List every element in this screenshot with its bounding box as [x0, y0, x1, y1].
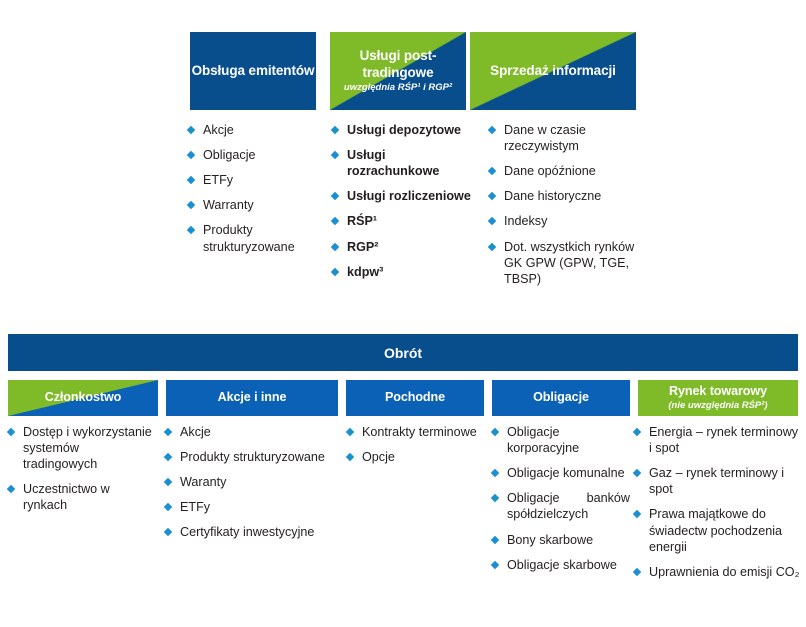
diamond-bullet-icon — [331, 242, 339, 250]
list-item: Opcje — [345, 449, 483, 465]
list-item-label: Bony skarbowe — [507, 533, 593, 547]
list-item-label: Indeksy — [504, 214, 547, 228]
list-item: Akcje — [186, 122, 326, 138]
list-item-label: Waranty — [180, 475, 226, 489]
list-item-label: Usługi rozrachunkowe — [347, 148, 439, 178]
section-banner-obrot: Obrót — [8, 334, 798, 371]
list-item-label: Obligacje korporacyjne — [507, 425, 579, 455]
panel-header-obsluga-emitentow[interactable]: Obsługa emitentów — [190, 32, 316, 110]
list-item-label: Dane opóźnione — [504, 164, 596, 178]
diamond-bullet-icon — [331, 192, 339, 200]
bullet-list-uslugi-post-tradingowe: Usługi depozytoweUsługi rozrachunkoweUsł… — [330, 122, 480, 280]
diamond-bullet-icon — [187, 201, 195, 209]
list-item-label: Opcje — [362, 450, 395, 464]
list-item-label: Dane w czasie rzeczywistym — [504, 123, 586, 153]
issuer-services-section: Obsługa emitentów Usługi post-tradingowe… — [0, 0, 806, 310]
category-header-title: Rynek towarowy — [669, 384, 767, 399]
diamond-bullet-icon — [633, 428, 641, 436]
category-header-title: Obligacje — [533, 390, 589, 405]
list-item-label: RŚP¹ — [347, 214, 377, 228]
list-item-label: Akcje — [203, 123, 234, 137]
list-item: Dane historyczne — [487, 188, 637, 204]
diamond-bullet-icon — [633, 469, 641, 477]
diamond-bullet-icon — [491, 535, 499, 543]
list-item-label: Kontrakty terminowe — [362, 425, 477, 439]
diamond-bullet-icon — [187, 176, 195, 184]
diamond-bullet-icon — [331, 217, 339, 225]
list-item: Usługi depozytowe — [330, 122, 480, 138]
bullet-list-czlonkostwo: Dostęp i wykorzystanie systemów tradingo… — [6, 424, 154, 514]
diamond-bullet-icon — [633, 510, 641, 518]
diamond-bullet-icon — [187, 126, 195, 134]
list-item-label: Obligacje skarbowe — [507, 558, 617, 572]
list-item-label: kdpw³ — [347, 265, 383, 279]
list-item: Obligacje korporacyjne — [490, 424, 630, 456]
diamond-bullet-icon — [491, 469, 499, 477]
list-item-label: Akcje — [180, 425, 211, 439]
list-item: RŚP¹ — [330, 213, 480, 229]
list-item: Certyfikaty inwestycyjne — [163, 524, 343, 540]
list-item: Indeksy — [487, 213, 637, 229]
diamond-bullet-icon — [164, 528, 172, 536]
diamond-bullet-icon — [331, 151, 339, 159]
list-item-label: Certyfikaty inwestycyjne — [180, 525, 314, 539]
list-item: Akcje — [163, 424, 343, 440]
diamond-bullet-icon — [187, 226, 195, 234]
diamond-bullet-icon — [164, 453, 172, 461]
panel-header-uslugi-post-tradingowe[interactable]: Usługi post-tradingowe uwzględnia RŚP¹ i… — [330, 32, 466, 110]
list-item: Obligacje — [186, 147, 326, 163]
list-item: Energia – rynek terminowy i spot — [632, 424, 800, 456]
list-item: Uczestnictwo w rynkach — [6, 481, 154, 513]
list-item: Obligacje komunalne — [490, 465, 630, 481]
list-item-label: RGP² — [347, 240, 378, 254]
list-item-label: ETFy — [180, 500, 210, 514]
list-item: Usługi rozrachunkowe — [330, 147, 480, 179]
list-item: Dane opóźnione — [487, 163, 637, 179]
panel-header-title: Sprzedaż informacji — [490, 63, 616, 79]
list-item-label: Produkty strukturyzowane — [203, 223, 295, 253]
category-header-rynek-towarowy[interactable]: Rynek towarowy (nie uwzględnia RŚP²) — [638, 380, 798, 416]
list-item: RGP² — [330, 239, 480, 255]
diamond-bullet-icon — [491, 560, 499, 568]
list-item-label: Warranty — [203, 198, 254, 212]
diamond-bullet-icon — [491, 494, 499, 502]
category-header-czlonkostwo[interactable]: Członkostwo — [8, 380, 158, 416]
list-item: Dostęp i wykorzystanie systemów tradingo… — [6, 424, 154, 472]
list-item: ETFy — [186, 172, 326, 188]
list-item-label: Dane historyczne — [504, 189, 601, 203]
list-item: Prawa majątkowe do świadectw pochodzenia… — [632, 506, 800, 554]
category-header-subtitle: (nie uwzględnia RŚP²) — [668, 400, 767, 411]
panel-header-sprzedaz-informacji[interactable]: Sprzedaż informacji — [470, 32, 636, 110]
diamond-bullet-icon — [488, 126, 496, 134]
list-item-label: Obligacje komunalne — [507, 466, 625, 480]
bullet-list-sprzedaz-informacji: Dane w czasie rzeczywistymDane opóźnione… — [487, 122, 637, 287]
diamond-bullet-icon — [346, 428, 354, 436]
bullet-list-obsluga-emitentow: AkcjeObligacjeETFyWarrantyProdukty struk… — [186, 122, 326, 255]
list-item: Obligacje banków spółdzielczych — [490, 490, 630, 522]
diamond-bullet-icon — [7, 485, 15, 493]
list-item: Usługi rozliczeniowe — [330, 188, 480, 204]
list-item: Bony skarbowe — [490, 532, 630, 548]
list-item-label: Uczestnictwo w rynkach — [23, 482, 110, 512]
category-header-akcje-i-inne[interactable]: Akcje i inne — [166, 380, 338, 416]
list-item-label: Uprawnienia do emisji CO₂ — [649, 565, 799, 579]
category-header-title: Akcje i inne — [218, 390, 287, 405]
list-item: kdpw³ — [330, 264, 480, 280]
list-item-label: Produkty strukturyzowane — [180, 450, 325, 464]
diamond-bullet-icon — [488, 217, 496, 225]
diamond-bullet-icon — [491, 428, 499, 436]
diamond-bullet-icon — [331, 126, 339, 134]
diamond-bullet-icon — [7, 428, 15, 436]
bullet-list-rynek-towarowy: Energia – rynek terminowy i spotGaz – ry… — [632, 424, 800, 580]
diamond-bullet-icon — [187, 151, 195, 159]
list-item-label: Usługi rozliczeniowe — [347, 189, 471, 203]
bullet-list-akcje-i-inne: AkcjeProdukty strukturyzowaneWarantyETFy… — [163, 424, 343, 541]
list-item: Gaz – rynek terminowy i spot — [632, 465, 800, 497]
diamond-bullet-icon — [164, 478, 172, 486]
list-item-label: Dot. wszystkich rynków GK GPW (GPW, TGE,… — [504, 240, 634, 286]
list-item-label: Prawa majątkowe do świadectw pochodzenia… — [649, 507, 782, 553]
list-item: Dot. wszystkich rynków GK GPW (GPW, TGE,… — [487, 239, 637, 287]
diamond-bullet-icon — [164, 428, 172, 436]
panel-header-title: Obsługa emitentów — [192, 63, 315, 79]
list-item-label: Obligacje banków spółdzielczych — [507, 491, 630, 521]
list-item-label: Energia – rynek terminowy i spot — [649, 425, 798, 455]
list-item: Obligacje skarbowe — [490, 557, 630, 573]
diamond-bullet-icon — [633, 568, 641, 576]
diamond-bullet-icon — [488, 192, 496, 200]
category-header-title: Pochodne — [385, 390, 445, 405]
list-item-label: Obligacje — [203, 148, 256, 162]
diamond-bullet-icon — [488, 167, 496, 175]
bullet-list-obligacje: Obligacje korporacyjneObligacje komunaln… — [490, 424, 630, 573]
section-banner-label: Obrót — [384, 345, 422, 361]
category-header-title: Członkostwo — [45, 390, 122, 405]
list-item: Produkty strukturyzowane — [186, 222, 326, 254]
list-item-label: Usługi depozytowe — [347, 123, 461, 137]
list-item: Dane w czasie rzeczywistym — [487, 122, 637, 154]
list-item: Waranty — [163, 474, 343, 490]
list-item-label: ETFy — [203, 173, 233, 187]
panel-header-title: Usługi post-tradingowe — [330, 48, 466, 81]
category-header-pochodne[interactable]: Pochodne — [346, 380, 484, 416]
list-item: Warranty — [186, 197, 326, 213]
panel-header-subtitle: uwzględnia RŚP¹ i RGP² — [344, 82, 452, 93]
list-item-label: Dostęp i wykorzystanie systemów tradingo… — [23, 425, 152, 471]
diamond-bullet-icon — [164, 503, 172, 511]
diamond-bullet-icon — [488, 242, 496, 250]
diamond-bullet-icon — [331, 267, 339, 275]
list-item-label: Gaz – rynek terminowy i spot — [649, 466, 784, 496]
category-header-obligacje[interactable]: Obligacje — [492, 380, 630, 416]
list-item: Produkty strukturyzowane — [163, 449, 343, 465]
list-item: ETFy — [163, 499, 343, 515]
bullet-list-pochodne: Kontrakty terminoweOpcje — [345, 424, 483, 465]
diamond-bullet-icon — [346, 453, 354, 461]
list-item: Kontrakty terminowe — [345, 424, 483, 440]
list-item: Uprawnienia do emisji CO₂ — [632, 564, 800, 580]
